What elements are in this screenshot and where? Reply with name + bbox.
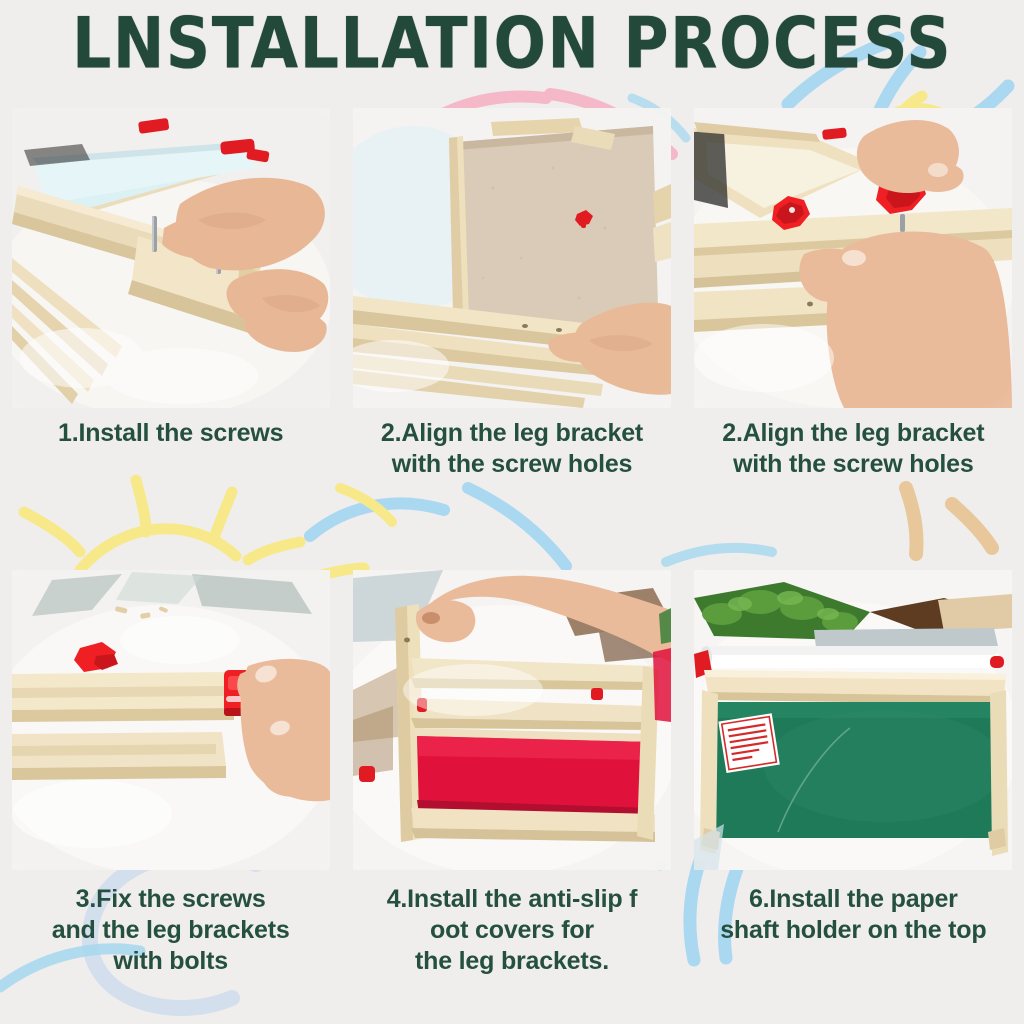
step-card-3: 2.Align the leg bracket with the screw h…	[683, 100, 1024, 562]
photo-fix-with-bolts	[12, 570, 330, 870]
paper-roll	[700, 646, 998, 668]
step-card-5: 4.Install the anti-slip f oot covers for…	[341, 562, 682, 1024]
step-card-1: 1.Install the screws	[0, 100, 341, 562]
step-card-6: 6.Install the paper shaft holder on the …	[683, 562, 1024, 1024]
warning-label	[719, 713, 780, 773]
steps-grid: 1.Install the screws	[0, 100, 1024, 1024]
page-title: LNSTALLATION PROCESS	[72, 8, 952, 79]
step-caption-2: 2.Align the leg bracket with the screw h…	[351, 418, 673, 480]
step-card-2: 2.Align the leg bracket with the screw h…	[341, 100, 682, 562]
step-caption-4: 3.Fix the screws and the leg brackets wi…	[10, 884, 332, 976]
step-caption-3: 2.Align the leg bracket with the screw h…	[692, 418, 1014, 480]
photo-anti-slip-feet	[353, 570, 671, 870]
step-caption-1: 1.Install the screws	[10, 418, 332, 449]
photo-paper-shaft-holder	[694, 570, 1012, 870]
infographic-root: LNSTALLATION PROCESS	[0, 0, 1024, 1024]
step-caption-5: 4.Install the anti-slip f oot covers for…	[351, 884, 673, 976]
photo-tighten-knobs	[694, 108, 1012, 408]
step-caption-6: 6.Install the paper shaft holder on the …	[692, 884, 1014, 946]
step-card-4: 3.Fix the screws and the leg brackets wi…	[0, 562, 341, 1024]
photo-align-bracket	[353, 108, 671, 408]
page-title-wrap: LNSTALLATION PROCESS	[0, 14, 1024, 72]
photo-install-screws	[12, 108, 330, 408]
